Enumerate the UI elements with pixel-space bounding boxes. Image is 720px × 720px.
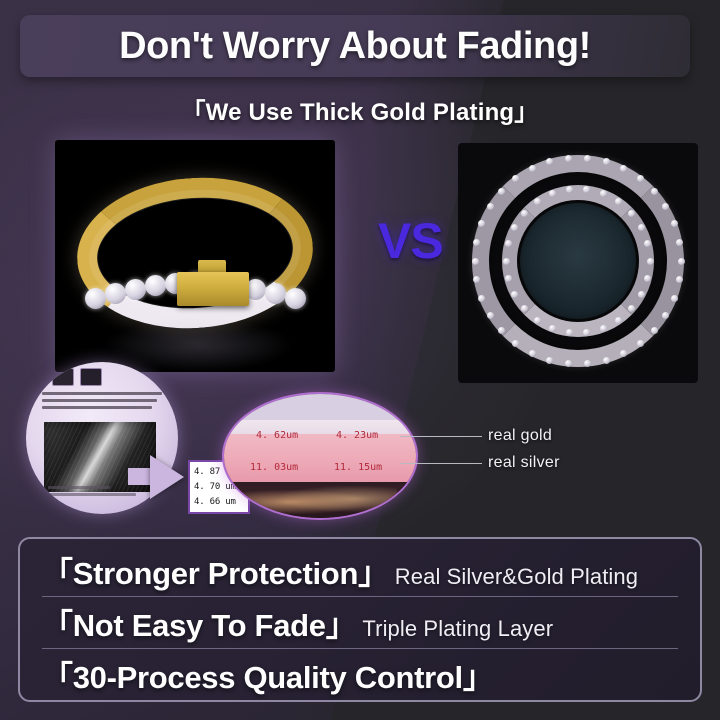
chain-sparkle: [600, 190, 607, 197]
chain-sparkle: [511, 224, 518, 231]
callout-real-gold: real gold: [488, 427, 552, 445]
chain-sparkle: [662, 203, 669, 210]
chain-sparkle: [600, 325, 607, 332]
feature-list-panel: 「Stronger Protection」Real Silver&Gold Pl…: [18, 537, 702, 702]
chain-sparkles: [458, 143, 698, 383]
chain-sparkle: [638, 224, 645, 231]
chain-sparkle: [498, 327, 505, 334]
chain-sparkle: [473, 276, 480, 283]
chain-sparkle: [512, 175, 519, 182]
micro-substrate-top: [224, 394, 416, 420]
chain-sparkle: [637, 340, 644, 347]
leader-line-silver: [400, 463, 482, 464]
bracelet-stone: [145, 275, 166, 296]
feature-headline: 「Stronger Protection」: [42, 548, 389, 593]
chain-sparkle: [565, 155, 572, 162]
feature-headline: 「Not Easy To Fade」: [42, 600, 356, 645]
arrow-right-icon: [150, 455, 184, 499]
chain-sparkle: [620, 165, 627, 172]
chain-illustration: [458, 143, 698, 383]
chain-sparkle: [584, 155, 591, 162]
chain-sparkle: [644, 240, 651, 247]
chain-sparkle: [676, 276, 683, 283]
bracelet-clasp: [177, 272, 249, 306]
chain-sparkle: [637, 175, 644, 182]
silver-measure-2: 11. 15um: [334, 462, 382, 473]
chain-sparkle: [472, 258, 479, 265]
microscope-cross-section: 4. 62um 4. 23um 11. 03um 11. 15um: [222, 392, 418, 520]
chain-sparkle: [603, 357, 610, 364]
chain-sparkle: [671, 295, 678, 302]
feature-row: 「Not Easy To Fade」Triple Plating Layer: [42, 596, 678, 648]
certificate-badge-icon: [52, 368, 74, 386]
chain-sparkle: [487, 203, 494, 210]
silver-chain-photo: [458, 143, 698, 383]
chain-sparkle: [615, 198, 622, 205]
chain-sparkle: [505, 240, 512, 247]
chain-sparkle: [549, 190, 556, 197]
chain-sparkle: [584, 360, 591, 367]
bracelet-stone: [85, 288, 106, 309]
bracelet-stone: [105, 283, 126, 304]
chain-sparkle: [647, 258, 654, 265]
chain-sparkle: [549, 325, 556, 332]
chain-sparkle: [628, 210, 635, 217]
gold-measure-1: 4. 62um: [256, 430, 298, 441]
chain-sparkle: [546, 357, 553, 364]
gold-measure-2: 4. 23um: [336, 430, 378, 441]
certification-badges: [52, 366, 122, 388]
page-title: Don't Worry About Fading!: [119, 25, 591, 68]
micro-base-metal: [224, 482, 416, 520]
chain-sparkle: [651, 327, 658, 334]
chain-sparkle: [478, 220, 485, 227]
bracelet-illustration: [55, 140, 335, 372]
bracelet-stone: [285, 288, 306, 309]
chain-sparkle: [566, 186, 573, 193]
chain-sparkle: [662, 312, 669, 319]
chain-sparkle: [529, 165, 536, 172]
subtitle: 「We Use Thick Gold Plating」: [0, 92, 720, 127]
chain-sparkle: [651, 188, 658, 195]
chain-sparkle: [511, 291, 518, 298]
feature-detail: Triple Plating Layer: [362, 616, 553, 642]
vs-label: VS: [378, 212, 443, 270]
chain-sparkle: [478, 295, 485, 302]
chain-sparkle: [583, 329, 590, 336]
chain-sparkle: [487, 312, 494, 319]
chain-sparkle: [615, 317, 622, 324]
chain-sparkle: [676, 239, 683, 246]
chain-sparkle: [671, 220, 678, 227]
chain-sparkle: [546, 158, 553, 165]
chain-sparkle: [638, 291, 645, 298]
chain-sparkle: [498, 188, 505, 195]
callout-real-silver: real silver: [488, 454, 560, 472]
gold-bracelet-photo: [55, 140, 335, 372]
sem-report-text-lines: [42, 392, 162, 413]
promo-graphic: Don't Worry About Fading! 「We Use Thick …: [0, 0, 720, 720]
sem-report-footer-lines: [48, 486, 152, 500]
header-banner: Don't Worry About Fading!: [20, 15, 690, 77]
chain-sparkle: [521, 305, 528, 312]
chain-sparkle: [565, 360, 572, 367]
chain-sparkle: [521, 210, 528, 217]
chain-sparkle: [620, 350, 627, 357]
chain-sparkle: [628, 305, 635, 312]
chain-sparkle: [505, 275, 512, 282]
feature-row: 「30-Process Quality Control」: [42, 648, 678, 700]
silver-measure-1: 11. 03um: [250, 462, 298, 473]
chain-sparkle: [678, 258, 685, 265]
feature-row: 「Stronger Protection」Real Silver&Gold Pl…: [42, 545, 678, 596]
micro-gold-layer: [224, 420, 416, 434]
chain-sparkle: [644, 275, 651, 282]
chain-sparkle: [473, 239, 480, 246]
chain-sparkle: [529, 350, 536, 357]
shield-badge-icon: [80, 368, 102, 386]
chain-sparkle: [512, 340, 519, 347]
chain-sparkle: [534, 198, 541, 205]
bracelet-reflection: [103, 318, 293, 372]
feature-headline: 「30-Process Quality Control」: [42, 652, 494, 697]
chain-sparkle: [566, 329, 573, 336]
chain-sparkle: [603, 158, 610, 165]
bracelet-stone: [125, 279, 146, 300]
chain-sparkle: [583, 186, 590, 193]
chain-sparkle: [503, 258, 510, 265]
feature-detail: Real Silver&Gold Plating: [395, 564, 638, 590]
micro-silver-layer: [224, 434, 416, 482]
bracelet-stone: [265, 283, 286, 304]
chain-sparkle: [534, 317, 541, 324]
leader-line-gold: [400, 436, 482, 437]
